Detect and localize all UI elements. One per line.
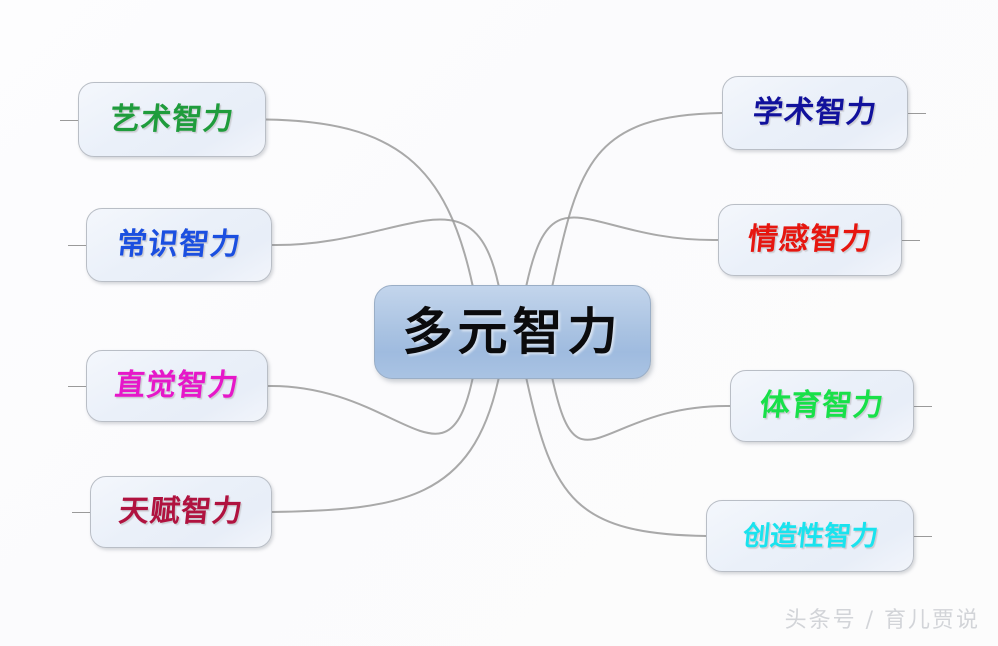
mindmap-canvas: 多元智力艺术智力常识智力直觉智力天赋智力学术智力情感智力体育智力创造性智力 头条… xyxy=(0,0,998,646)
branch-node-right-3[interactable]: 创造性智力 xyxy=(706,500,914,572)
branch-node-label: 情感智力 xyxy=(746,225,873,255)
branch-stub-right-2 xyxy=(914,406,932,407)
branch-node-left-0[interactable]: 艺术智力 xyxy=(78,82,266,157)
connector xyxy=(527,218,719,285)
branch-node-label: 直觉智力 xyxy=(113,371,240,401)
center-node[interactable]: 多元智力 xyxy=(374,285,651,379)
branch-stub-right-0 xyxy=(908,113,926,114)
branch-node-right-1[interactable]: 情感智力 xyxy=(718,204,902,276)
branch-node-label: 学术智力 xyxy=(751,98,878,128)
branch-stub-left-3 xyxy=(72,512,90,513)
branch-node-label: 体育智力 xyxy=(758,391,885,421)
branch-node-label: 常识智力 xyxy=(115,230,242,260)
branch-node-label: 创造性智力 xyxy=(741,523,879,550)
connector xyxy=(553,113,723,285)
branch-stub-left-1 xyxy=(68,245,86,246)
branch-node-left-1[interactable]: 常识智力 xyxy=(86,208,272,282)
connector xyxy=(553,379,731,440)
branch-node-right-0[interactable]: 学术智力 xyxy=(722,76,908,150)
branch-node-label: 天赋智力 xyxy=(117,497,244,527)
center-node-label: 多元智力 xyxy=(403,307,623,357)
branch-node-left-2[interactable]: 直觉智力 xyxy=(86,350,268,422)
connector xyxy=(272,379,499,512)
branch-node-right-2[interactable]: 体育智力 xyxy=(730,370,914,442)
branch-node-label: 艺术智力 xyxy=(108,105,235,135)
branch-stub-left-2 xyxy=(68,386,86,387)
watermark: 头条号 / 育儿贾说 xyxy=(785,602,980,634)
branch-stub-right-1 xyxy=(902,240,920,241)
connector xyxy=(266,120,473,286)
connector xyxy=(272,220,499,285)
connector xyxy=(268,379,473,434)
branch-node-left-3[interactable]: 天赋智力 xyxy=(90,476,272,548)
branch-stub-left-0 xyxy=(60,120,78,121)
branch-stub-right-3 xyxy=(914,536,932,537)
connector xyxy=(527,379,707,536)
